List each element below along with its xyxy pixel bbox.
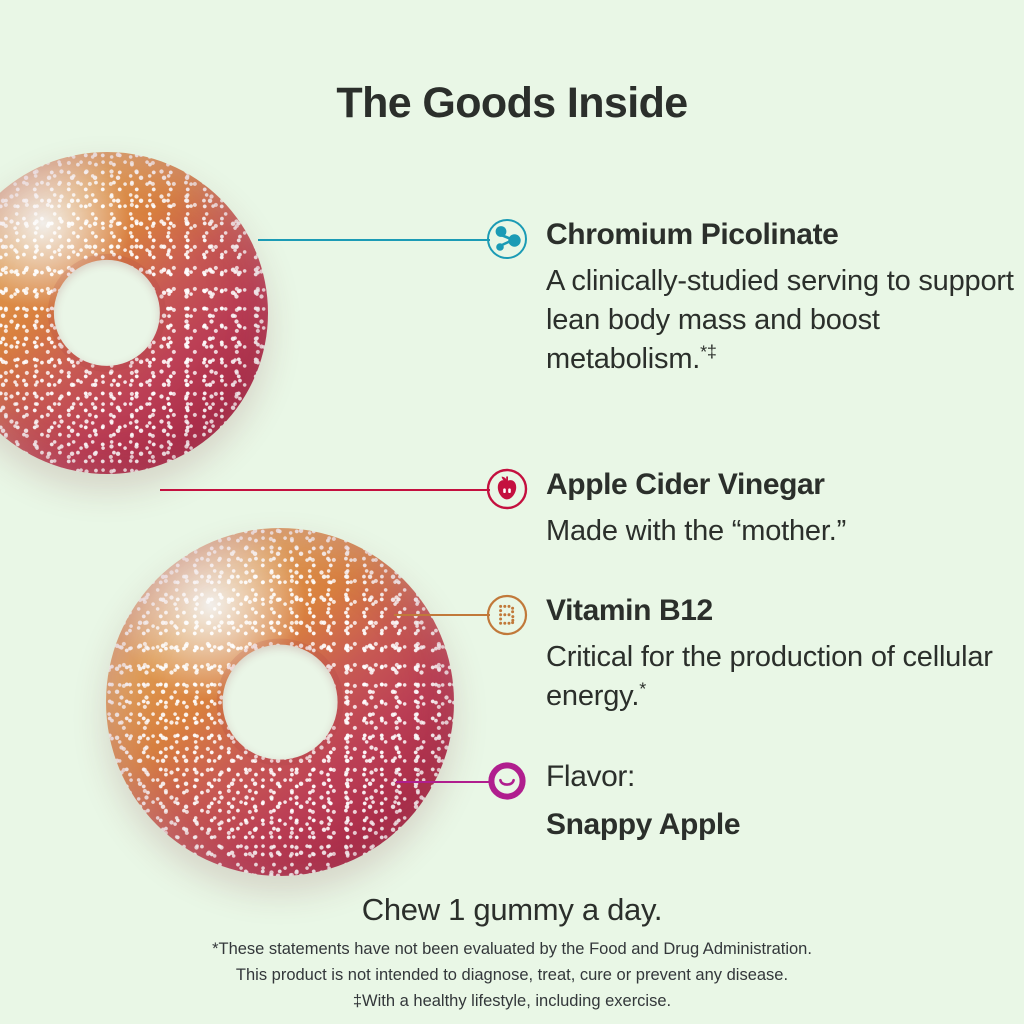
- ingredient-title: Apple Cider Vinegar: [546, 466, 825, 501]
- smile-icon: [486, 760, 528, 802]
- footnote-marker: *: [639, 678, 646, 698]
- apple-gummy-ring-top: [0, 152, 268, 474]
- apple-icon: [486, 468, 528, 510]
- disclaimer: *These statements have not been evaluate…: [0, 936, 1024, 1014]
- disclaimer-line: This product is not intended to diagnose…: [0, 962, 1024, 988]
- ingredient-description: A clinically-studied serving to support …: [546, 262, 1016, 379]
- molecule-icon: [486, 218, 528, 260]
- dosage-instruction: Chew 1 gummy a day.: [0, 892, 1024, 928]
- ingredient-item-flavor: Flavor: Snappy Apple: [486, 758, 1016, 841]
- flavor-label: Flavor:: [546, 758, 635, 793]
- ingredient-description: Made with the “mother.”: [546, 512, 1016, 551]
- disclaimer-line: ‡With a healthy lifestyle, including exe…: [0, 988, 1024, 1014]
- disclaimer-line: *These statements have not been evaluate…: [0, 936, 1024, 962]
- ingredient-item-apple-cider-vinegar: Apple Cider Vinegar Made with the “mothe…: [486, 466, 1016, 551]
- connector-line-chromium: [258, 239, 490, 241]
- ingredient-description: Critical for the production of cellular …: [546, 638, 1016, 716]
- ingredient-title: Vitamin B12: [546, 592, 713, 627]
- flavor-value: Snappy Apple: [546, 808, 1016, 841]
- apple-gummy-ring-bottom: [106, 528, 454, 876]
- ingredient-item-chromium: Chromium Picolinate A clinically-studied…: [486, 216, 1016, 379]
- footnote-marker: *‡: [700, 341, 717, 361]
- ingredient-infographic: The Goods Inside Chromium Picolinate A c…: [0, 0, 1024, 1024]
- ingredient-item-vitamin-b12: Vitamin B12 Critical for the production …: [486, 592, 1016, 716]
- connector-line-acv: [160, 489, 490, 491]
- connector-line-b12: [394, 614, 490, 616]
- ingredient-title: Chromium Picolinate: [546, 216, 838, 251]
- page-title: The Goods Inside: [0, 82, 1024, 125]
- vitamin-b-icon: [486, 594, 528, 636]
- ingredient-description-text: A clinically-studied serving to support …: [546, 265, 1014, 375]
- ingredient-description-text: Critical for the production of cellular …: [546, 641, 993, 712]
- connector-line-flavor: [396, 781, 490, 783]
